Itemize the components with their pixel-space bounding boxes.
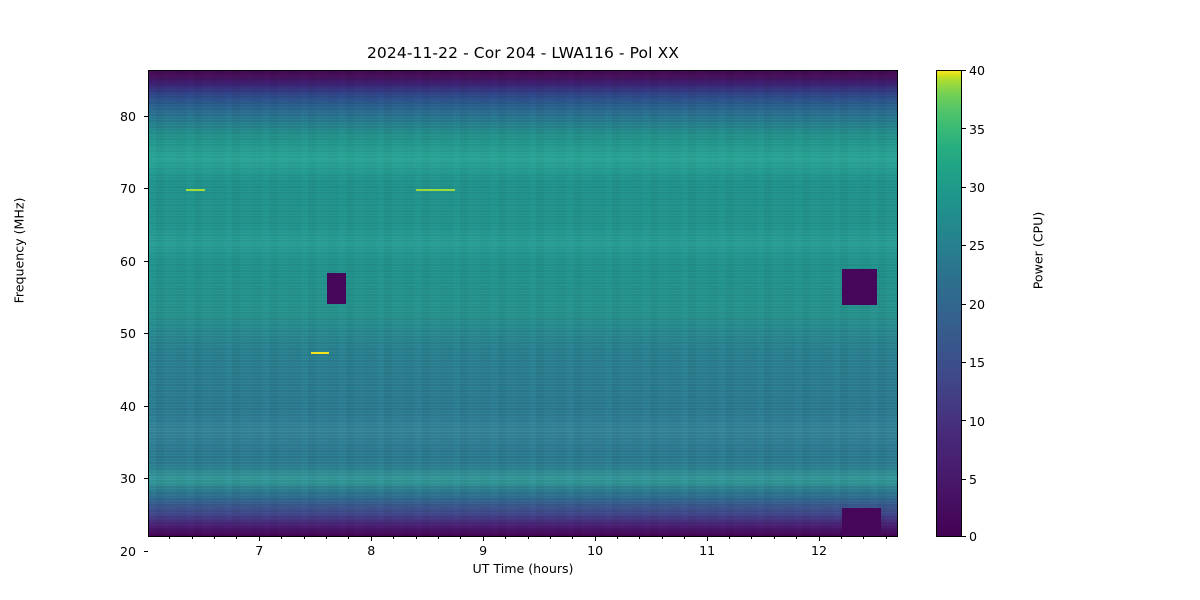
colorbar-tick-15 bbox=[962, 362, 966, 363]
x-axis-title: UT Time (hours) bbox=[148, 561, 898, 576]
data-dropout-block-1 bbox=[327, 273, 346, 304]
colorbar-tick-20 bbox=[962, 304, 966, 305]
colorbar-label-5: 5 bbox=[969, 472, 977, 487]
xtick-minor bbox=[662, 537, 663, 539]
xtick-10 bbox=[595, 537, 596, 541]
xtick-minor bbox=[460, 537, 461, 539]
colorbar-label-25: 25 bbox=[969, 238, 985, 253]
ytick-label-20: 20 bbox=[0, 544, 136, 559]
colorbar-gradient bbox=[936, 70, 962, 537]
xtick-label-10: 10 bbox=[575, 543, 615, 558]
xtick-minor bbox=[886, 537, 887, 539]
ytick-label-30: 30 bbox=[0, 471, 136, 486]
rfi-streak-68mhz-early bbox=[186, 189, 205, 191]
xtick-minor bbox=[528, 537, 529, 539]
xtick-minor bbox=[550, 537, 551, 539]
xtick-minor bbox=[684, 537, 685, 539]
xtick-minor bbox=[617, 537, 618, 539]
colorbar-label-40: 40 bbox=[969, 63, 985, 78]
colorbar-label-10: 10 bbox=[969, 414, 985, 429]
ytick-40 bbox=[144, 406, 148, 407]
ytick-20 bbox=[144, 551, 148, 552]
xtick-minor bbox=[639, 537, 640, 539]
xtick-minor bbox=[841, 537, 842, 539]
xtick-minor bbox=[438, 537, 439, 539]
colorbar-label-0: 0 bbox=[969, 529, 977, 544]
ytick-70 bbox=[144, 188, 148, 189]
y-axis-title: Frequency (MHz) bbox=[12, 111, 27, 391]
colorbar-tick-0 bbox=[962, 536, 966, 537]
xtick-minor bbox=[572, 537, 573, 539]
ytick-60 bbox=[144, 261, 148, 262]
xtick-minor bbox=[326, 537, 327, 539]
rfi-streak-42mhz bbox=[311, 352, 329, 354]
xtick-minor bbox=[192, 537, 193, 539]
spectrogram-figure: 2024-11-22 - Cor 204 - LWA116 - Pol XX bbox=[0, 0, 1200, 600]
page-title: 2024-11-22 - Cor 204 - LWA116 - Pol XX bbox=[0, 44, 1046, 62]
xtick-minor bbox=[729, 537, 730, 539]
colorbar-label-30: 30 bbox=[969, 180, 985, 195]
colorbar-tick-25 bbox=[962, 245, 966, 246]
xtick-minor bbox=[774, 537, 775, 539]
xtick-minor bbox=[236, 537, 237, 539]
xtick-7 bbox=[259, 537, 260, 541]
xtick-minor bbox=[281, 537, 282, 539]
column-variation-noise bbox=[149, 71, 897, 536]
colorbar-tick-5 bbox=[962, 479, 966, 480]
xtick-12 bbox=[819, 537, 820, 541]
xtick-label-7: 7 bbox=[239, 543, 279, 558]
xtick-minor bbox=[169, 537, 170, 539]
xtick-minor bbox=[505, 537, 506, 539]
colorbar-tick-40 bbox=[962, 70, 966, 71]
xtick-minor bbox=[416, 537, 417, 539]
xtick-11 bbox=[707, 537, 708, 541]
rfi-streak-68mhz-mid bbox=[416, 189, 455, 191]
ytick-30 bbox=[144, 478, 148, 479]
colorbar-label-20: 20 bbox=[969, 297, 985, 312]
data-dropout-block-2 bbox=[842, 269, 877, 305]
xtick-minor bbox=[796, 537, 797, 539]
spectrogram-plot-area[interactable] bbox=[148, 70, 898, 537]
ytick-80 bbox=[144, 116, 148, 117]
xtick-minor bbox=[863, 537, 864, 539]
xtick-minor bbox=[348, 537, 349, 539]
colorbar-label-15: 15 bbox=[969, 355, 985, 370]
data-dropout-block-3 bbox=[842, 508, 881, 537]
xtick-minor bbox=[214, 537, 215, 539]
heatmap-image bbox=[149, 71, 897, 536]
xtick-label-8: 8 bbox=[351, 543, 391, 558]
xtick-label-9: 9 bbox=[463, 543, 503, 558]
xtick-8 bbox=[371, 537, 372, 541]
xtick-label-11: 11 bbox=[687, 543, 727, 558]
xtick-9 bbox=[483, 537, 484, 541]
ytick-label-40: 40 bbox=[0, 399, 136, 414]
colorbar-tick-10 bbox=[962, 420, 966, 421]
xtick-minor bbox=[393, 537, 394, 539]
colorbar-tick-30 bbox=[962, 187, 966, 188]
colorbar-label-35: 35 bbox=[969, 122, 985, 137]
xtick-label-12: 12 bbox=[799, 543, 839, 558]
ytick-50 bbox=[144, 333, 148, 334]
colorbar[interactable]: 40 35 30 25 20 15 10 5 0 bbox=[936, 70, 962, 537]
xtick-minor bbox=[304, 537, 305, 539]
colorbar-title: Power (CPU) bbox=[1031, 111, 1046, 391]
colorbar-tick-35 bbox=[962, 128, 966, 129]
xtick-minor bbox=[751, 537, 752, 539]
